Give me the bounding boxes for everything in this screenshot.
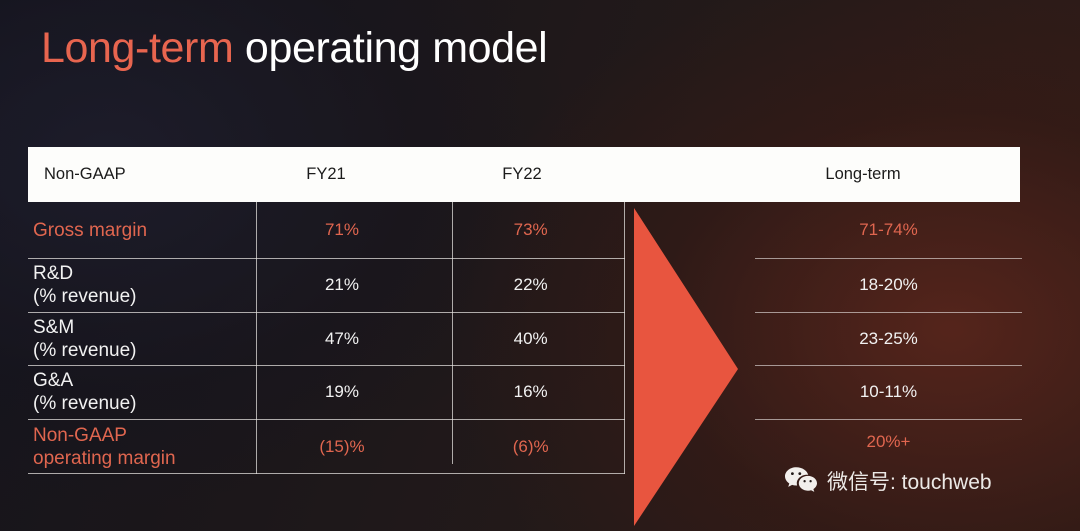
row-divider: [755, 419, 1022, 420]
cell-fy21: 71%: [248, 220, 437, 240]
watermark-text: 微信号: touchweb: [827, 466, 992, 496]
row-divider: [755, 312, 1022, 313]
cell-fy21: (15)%: [248, 437, 437, 457]
page-title-plain: operating model: [233, 24, 547, 72]
page-title-accent: Long-term: [41, 24, 233, 72]
column-header-metric: Non-GAAP: [44, 147, 126, 202]
cell-fy22: (6)%: [436, 437, 625, 457]
page-title: Long-term operating model: [41, 24, 547, 73]
cell-long-term: 10-11%: [755, 365, 1022, 419]
row-divider: [755, 365, 1022, 366]
cell-long-term: 71-74%: [755, 202, 1022, 258]
row-divider: [28, 419, 625, 420]
column-divider-fy22: [452, 202, 453, 464]
column-header-fy21: FY21: [228, 147, 424, 202]
watermark: 微信号: touchweb: [784, 466, 992, 496]
row-divider: [755, 258, 1022, 259]
cell-fy21: 19%: [248, 382, 437, 402]
row-label: R&D (% revenue): [28, 262, 248, 308]
cell-long-term: 18-20%: [755, 258, 1022, 312]
wechat-icon: [784, 466, 818, 496]
row-label: Gross margin: [28, 219, 248, 242]
row-label-line2: (% revenue): [33, 340, 137, 361]
column-header-long-term: Long-term: [728, 147, 998, 202]
row-label-line1: Gross margin: [33, 220, 147, 241]
cell-fy22: 16%: [436, 382, 625, 402]
row-label-line1: Non-GAAP: [33, 425, 127, 446]
row-label: Non-GAAP operating margin: [28, 424, 248, 470]
right-arrow-graphic: [632, 208, 740, 526]
slide-canvas: Long-term operating model Non-GAAP FY21 …: [0, 0, 1080, 531]
table-right-border: [624, 202, 625, 474]
table-row: R&D (% revenue) 21% 22%: [28, 258, 625, 312]
column-header-fy22: FY22: [424, 147, 620, 202]
triangle-icon: [632, 208, 740, 526]
cell-fy22: 22%: [436, 275, 625, 295]
table-row: Non-GAAP operating margin (15)% (6)%: [28, 419, 625, 474]
cell-fy22: 40%: [436, 329, 625, 349]
cell-fy22: 73%: [436, 220, 625, 240]
table-body-left: Gross margin 71% 73% R&D (% revenue) 21%…: [28, 202, 625, 474]
cell-fy21: 21%: [248, 275, 437, 295]
row-label-line2: operating margin: [33, 448, 176, 469]
table-header-row: Non-GAAP FY21 FY22 Long-term: [28, 147, 1020, 202]
row-label: G&A (% revenue): [28, 369, 248, 415]
row-label-line1: S&M: [33, 317, 74, 338]
cell-long-term: 20%+: [755, 419, 1022, 464]
table-body-long-term: 71-74% 18-20% 23-25% 10-11% 20%+: [755, 202, 1022, 474]
row-label: S&M (% revenue): [28, 316, 248, 362]
row-divider: [28, 258, 625, 259]
row-label-line2: (% revenue): [33, 393, 137, 414]
cell-fy21: 47%: [248, 329, 437, 349]
row-label-line1: R&D: [33, 263, 73, 284]
table-row: G&A (% revenue) 19% 16%: [28, 365, 625, 419]
column-divider-fy21: [256, 202, 257, 474]
row-label-line2: (% revenue): [33, 286, 137, 307]
table-bottom-border: [28, 473, 625, 474]
row-label-line1: G&A: [33, 370, 73, 391]
table-row: Gross margin 71% 73%: [28, 202, 625, 258]
table-row: S&M (% revenue) 47% 40%: [28, 312, 625, 365]
row-divider: [28, 365, 625, 366]
row-divider: [28, 312, 625, 313]
cell-long-term: 23-25%: [755, 312, 1022, 365]
